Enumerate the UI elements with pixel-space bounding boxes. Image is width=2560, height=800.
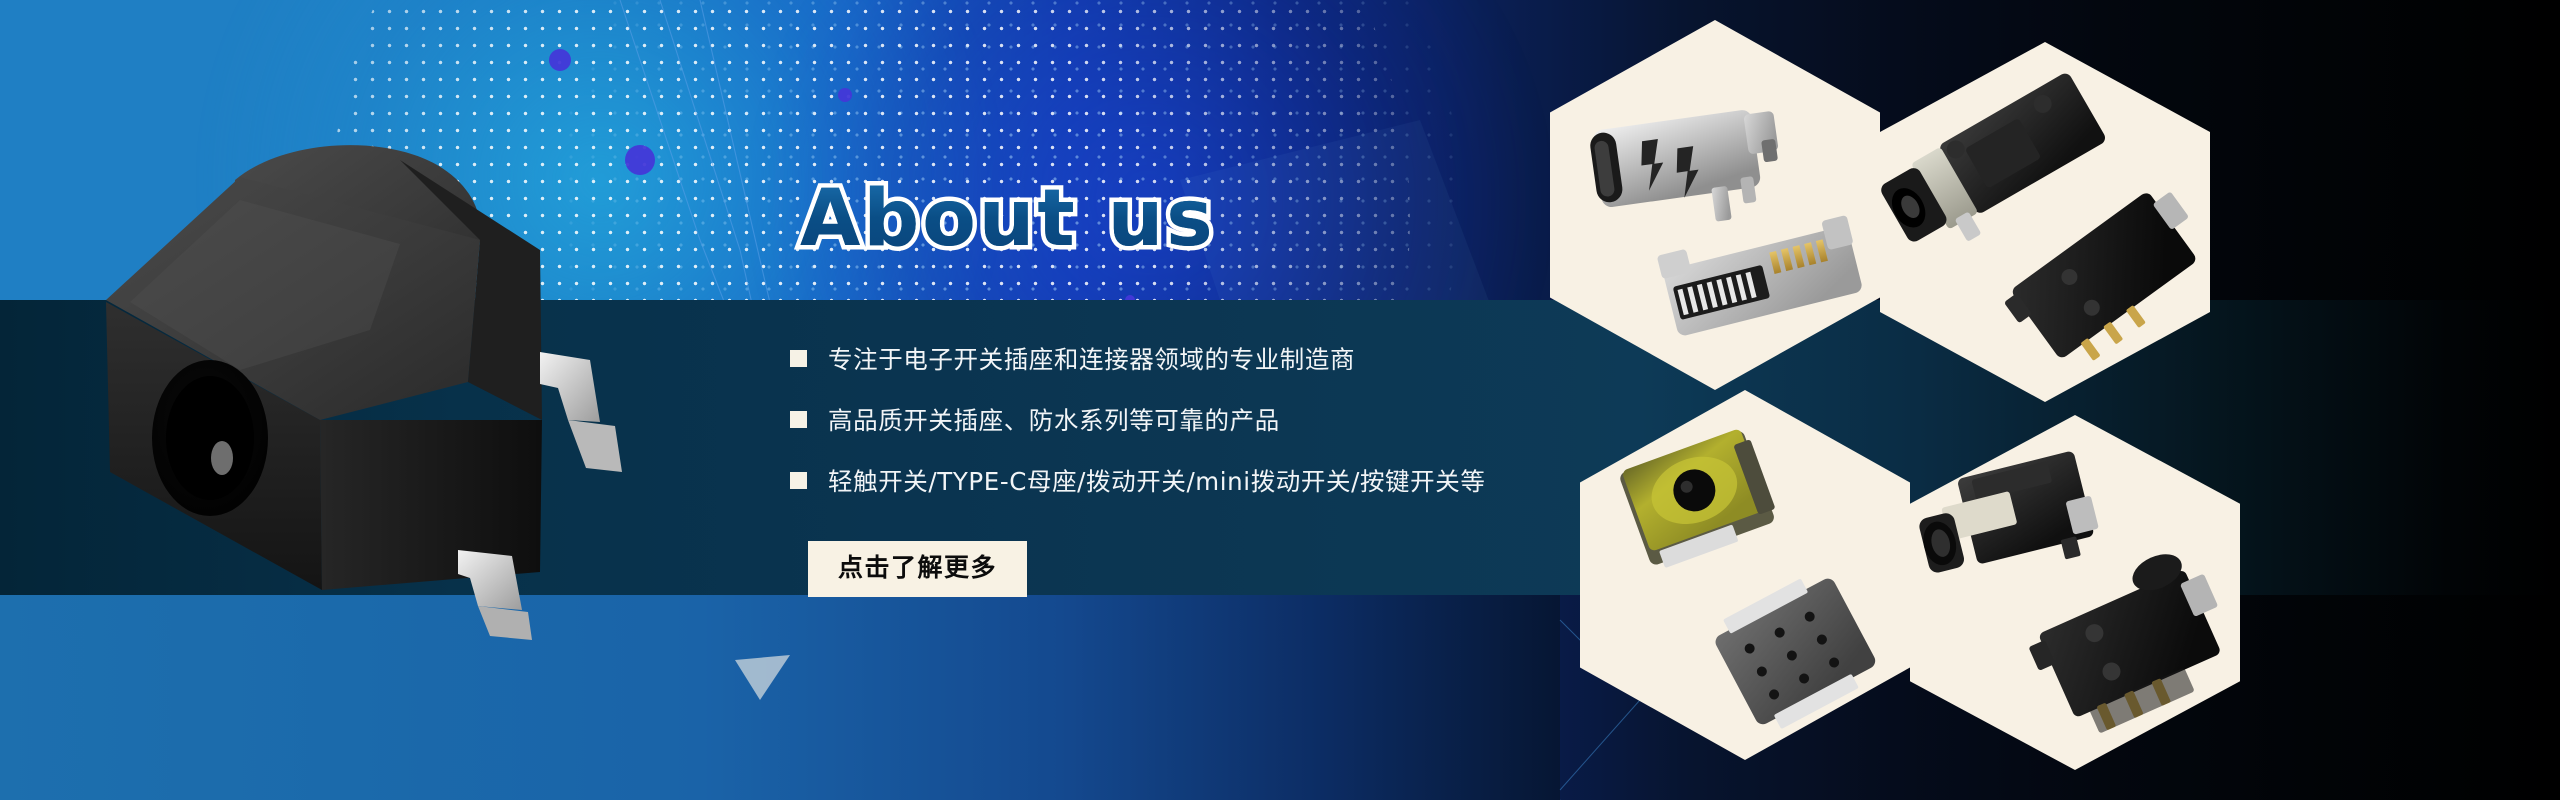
list-item: 轻触开关/TYPE-C母座/拨动开关/mini拨动开关/按键开关等	[790, 463, 1550, 498]
feature-text: 专注于电子开关插座和连接器领域的专业制造商	[828, 341, 1355, 376]
learn-more-button[interactable]: 点击了解更多	[808, 541, 1027, 597]
feature-text: 高品质开关插座、防水系列等可靠的产品	[828, 402, 1280, 437]
about-content: About us About us 专注于电子开关插座和连接器领域的专业制造商 …	[790, 175, 1550, 597]
product-solder-tab-1	[540, 352, 600, 422]
product-solder-tab-2	[458, 550, 522, 610]
hex-tile-dc-power-jack[interactable]	[1880, 42, 2210, 402]
usb-type-c-female-connector-image	[1550, 20, 1880, 390]
page-title-fill: About us	[800, 175, 1216, 265]
product-hex-gallery	[1560, 0, 2560, 800]
main-product-image	[70, 120, 650, 640]
audio-jack-connector-image	[1910, 415, 2240, 770]
list-item: 高品质开关插座、防水系列等可靠的产品	[790, 402, 1550, 437]
hex-tile-audio-jack[interactable]	[1910, 415, 2240, 770]
feature-list: 专注于电子开关插座和连接器领域的专业制造商 高品质开关插座、防水系列等可靠的产品…	[790, 341, 1550, 498]
page-title: About us About us	[800, 175, 1550, 295]
square-bullet-icon	[790, 472, 807, 489]
about-us-banner: About us About us 专注于电子开关插座和连接器领域的专业制造商 …	[0, 0, 2560, 800]
dc-power-jack-black-image	[1880, 42, 2210, 402]
feature-text: 轻触开关/TYPE-C母座/拨动开关/mini拨动开关/按键开关等	[828, 463, 1485, 498]
smd-tactile-switch-image	[1580, 390, 1910, 760]
square-bullet-icon	[790, 411, 807, 428]
hex-tile-tactile-switch[interactable]	[1580, 390, 1910, 760]
hex-tile-usb-type-c[interactable]	[1550, 20, 1880, 390]
square-bullet-icon	[790, 350, 807, 367]
list-item: 专注于电子开关插座和连接器领域的专业制造商	[790, 341, 1550, 376]
